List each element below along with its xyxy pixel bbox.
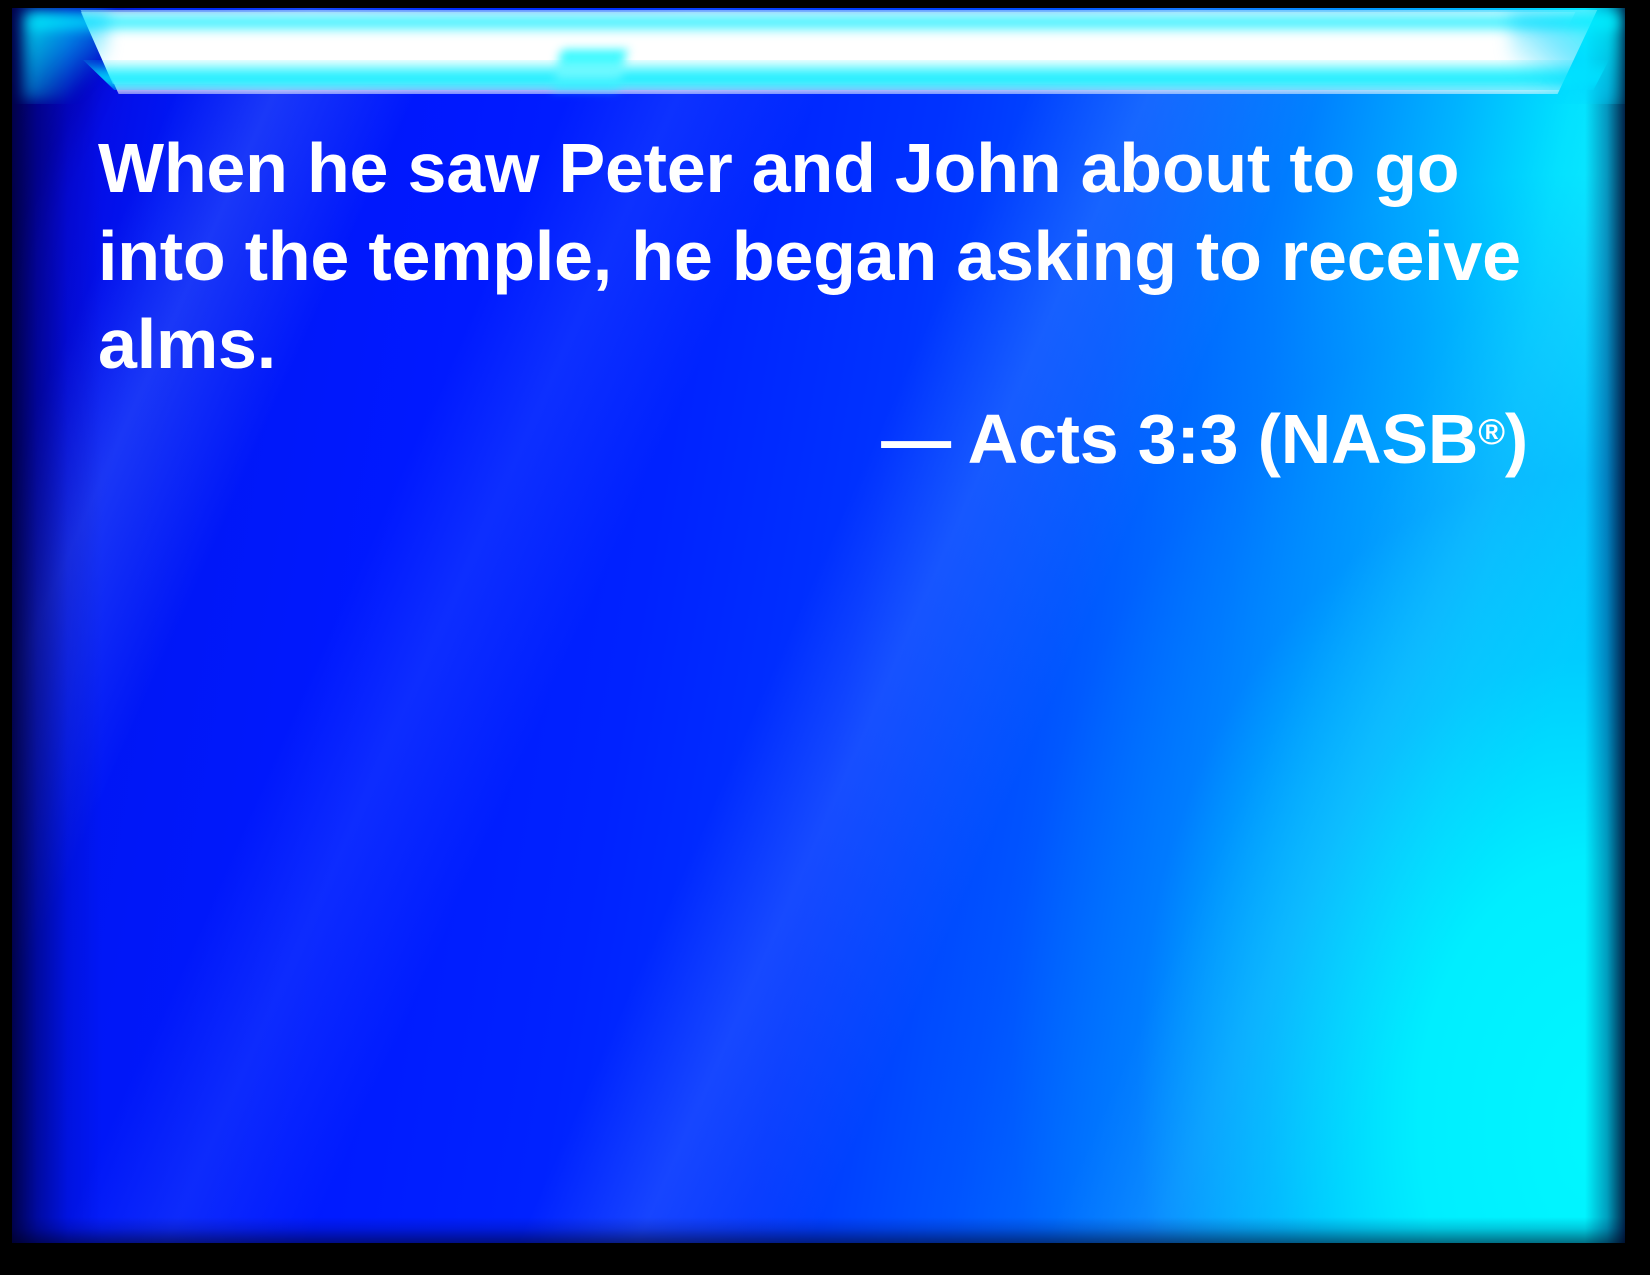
attribution-dash: — [881,400,967,478]
attribution-reference: Acts 3:3 (NASB [968,400,1479,478]
verse-slide: When he saw Peter and John about to go i… [0,0,1650,1275]
registered-trademark-icon: ® [1478,411,1505,452]
right-edge-shadow [1585,8,1625,1243]
band-right-bevel [1509,10,1619,104]
bottom-edge-shadow [12,1217,1625,1243]
verse-text: When he saw Peter and John about to go i… [98,124,1528,388]
band-cyan-notch [553,50,627,90]
verse-attribution: — Acts 3:3 (NASB®) [98,388,1528,483]
band-cyan-underglow [52,60,1609,90]
band-cyan-topedge [32,16,1617,28]
header-glow-band [12,8,1625,104]
attribution-close: ) [1505,400,1528,478]
artwork-panel: When he saw Peter and John about to go i… [12,8,1625,1243]
left-edge-shadow [12,8,102,1243]
band-left-bevel [24,12,110,100]
